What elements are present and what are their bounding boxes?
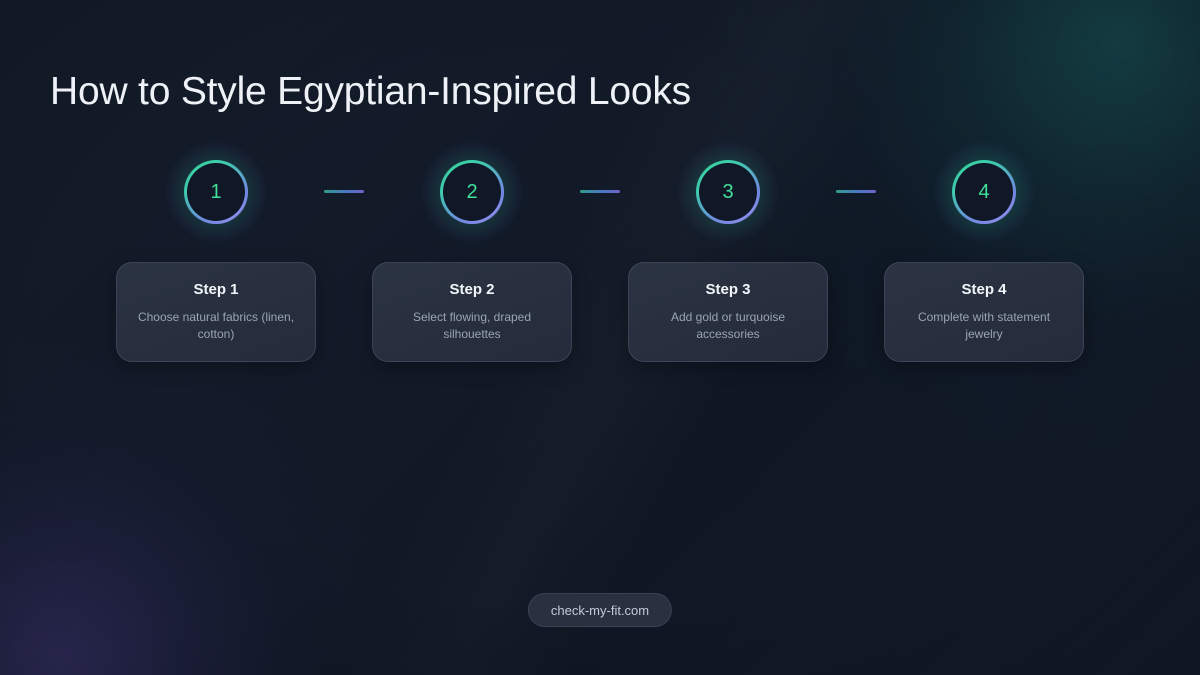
circle-inner: 1: [187, 163, 245, 221]
step-card-2[interactable]: Step 2 Select flowing, draped silhouette…: [372, 262, 572, 362]
step-connector-2-3: [580, 190, 620, 193]
circle-inner: 4: [955, 163, 1013, 221]
step-card-description: Choose natural fabrics (linen, cotton): [131, 309, 301, 344]
circle-inner: 3: [699, 163, 757, 221]
slide-canvas: How to Style Egyptian-Inspired Looks 1 S…: [0, 0, 1200, 675]
step-circle-3[interactable]: 3: [696, 160, 760, 224]
step-card-title: Step 3: [705, 281, 750, 299]
page-title: How to Style Egyptian-Inspired Looks: [50, 70, 691, 114]
step-number-label: 1: [210, 182, 221, 202]
step-connector-1-2: [324, 190, 364, 193]
step-item-4[interactable]: 4 Step 4 Complete with statement jewelry: [884, 160, 1084, 362]
step-card-1[interactable]: Step 1 Choose natural fabrics (linen, co…: [116, 262, 316, 362]
footer-url-label: check-my-fit.com: [551, 603, 649, 618]
step-item-1[interactable]: 1 Step 1 Choose natural fabrics (linen, …: [116, 160, 316, 362]
circle-inner: 2: [443, 163, 501, 221]
step-card-title: Step 4: [961, 281, 1006, 299]
step-number-label: 4: [978, 182, 989, 202]
step-item-3[interactable]: 3 Step 3 Add gold or turquoise accessori…: [628, 160, 828, 362]
footer-url-badge[interactable]: check-my-fit.com: [528, 593, 672, 627]
step-card-description: Select flowing, draped silhouettes: [387, 309, 557, 344]
step-number-label: 2: [466, 182, 477, 202]
step-connector-3-4: [836, 190, 876, 193]
circle-ring: 3: [696, 160, 760, 224]
circle-ring: 1: [184, 160, 248, 224]
steps-row: 1 Step 1 Choose natural fabrics (linen, …: [116, 160, 1084, 362]
step-card-4[interactable]: Step 4 Complete with statement jewelry: [884, 262, 1084, 362]
circle-ring: 4: [952, 160, 1016, 224]
step-circle-1[interactable]: 1: [184, 160, 248, 224]
step-card-description: Add gold or turquoise accessories: [643, 309, 813, 344]
step-number-label: 3: [722, 182, 733, 202]
step-circle-4[interactable]: 4: [952, 160, 1016, 224]
step-circle-2[interactable]: 2: [440, 160, 504, 224]
circle-ring: 2: [440, 160, 504, 224]
step-item-2[interactable]: 2 Step 2 Select flowing, draped silhouet…: [372, 160, 572, 362]
step-card-description: Complete with statement jewelry: [899, 309, 1069, 344]
step-card-title: Step 1: [193, 281, 238, 299]
step-card-3[interactable]: Step 3 Add gold or turquoise accessories: [628, 262, 828, 362]
step-card-title: Step 2: [449, 281, 494, 299]
